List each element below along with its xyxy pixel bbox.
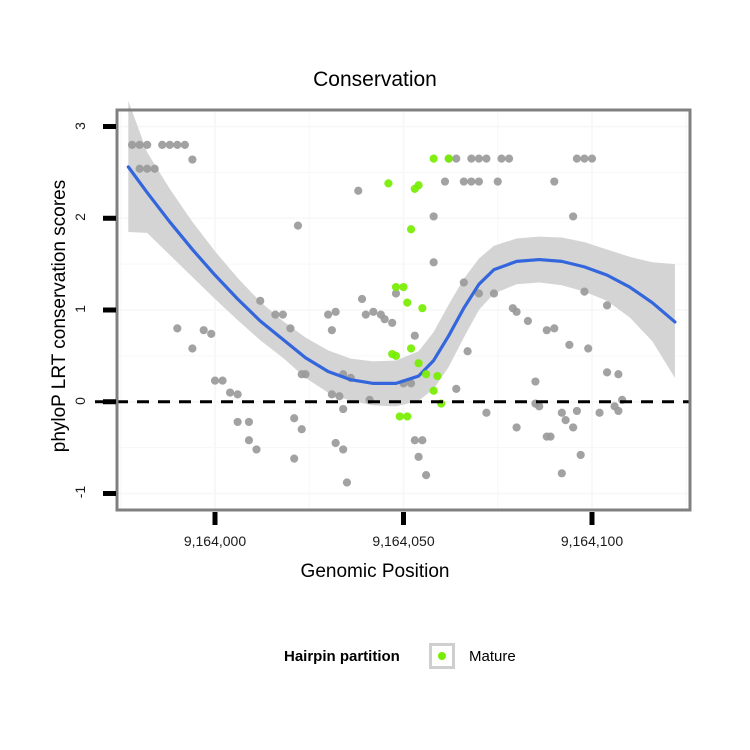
data-point-mature	[403, 299, 411, 307]
data-point-other	[505, 155, 513, 163]
data-point-other	[558, 469, 566, 477]
y-axis-tick-label: 1	[72, 294, 88, 324]
data-point-mature	[414, 359, 422, 367]
data-point-other	[524, 317, 532, 325]
data-point-other	[460, 278, 468, 286]
data-point-other	[328, 326, 336, 334]
data-point-mature	[403, 412, 411, 420]
data-point-other	[245, 418, 253, 426]
data-point-other	[256, 297, 264, 305]
data-point-other	[411, 436, 419, 444]
data-point-other	[200, 326, 208, 334]
y-axis-tick-label: 3	[72, 111, 88, 141]
data-point-other	[286, 324, 294, 332]
data-point-other	[173, 141, 181, 149]
data-point-other	[467, 155, 475, 163]
data-point-other	[128, 141, 136, 149]
data-point-other	[584, 344, 592, 352]
data-point-other	[494, 177, 502, 185]
data-point-other	[388, 319, 396, 327]
data-point-other	[271, 310, 279, 318]
legend-title: Hairpin partition	[284, 648, 400, 665]
data-point-other	[463, 347, 471, 355]
data-point-other	[245, 436, 253, 444]
data-point-mature	[399, 283, 407, 291]
data-point-other	[343, 478, 351, 486]
data-point-other	[294, 222, 302, 230]
data-point-other	[573, 155, 581, 163]
data-point-other	[550, 324, 558, 332]
data-point-other	[482, 409, 490, 417]
data-point-other	[441, 177, 449, 185]
data-point-other	[482, 155, 490, 163]
data-point-other	[136, 165, 144, 173]
data-point-other	[490, 289, 498, 297]
data-point-other	[562, 416, 570, 424]
data-point-other	[475, 177, 483, 185]
data-point-other	[569, 423, 577, 431]
legend-dot-icon	[438, 652, 446, 660]
data-point-other	[580, 288, 588, 296]
y-axis-tick-label: 0	[72, 386, 88, 416]
legend-label-mature: Mature	[469, 648, 516, 665]
y-axis-tick-label: 2	[72, 202, 88, 232]
data-point-other	[332, 439, 340, 447]
x-axis-tick-label: 9,164,100	[522, 533, 662, 549]
data-point-other	[301, 370, 309, 378]
data-point-other	[411, 332, 419, 340]
data-point-other	[234, 390, 242, 398]
data-point-other	[358, 295, 366, 303]
data-point-other	[531, 377, 539, 385]
data-point-mature	[392, 352, 400, 360]
data-point-other	[595, 409, 603, 417]
data-point-other	[546, 433, 554, 441]
plot-area	[0, 0, 750, 750]
data-point-other	[430, 212, 438, 220]
data-point-other	[460, 177, 468, 185]
data-point-other	[279, 310, 287, 318]
data-point-other	[339, 405, 347, 413]
data-point-mature	[392, 283, 400, 291]
data-point-other	[290, 455, 298, 463]
data-point-other	[603, 368, 611, 376]
data-point-other	[158, 141, 166, 149]
data-point-other	[550, 177, 558, 185]
conservation-scatter-figure: Conservation phyloP LRT conservation sco…	[0, 0, 750, 750]
data-point-other	[143, 141, 151, 149]
data-point-mature	[430, 387, 438, 395]
data-point-other	[418, 436, 426, 444]
data-point-other	[362, 310, 370, 318]
data-point-other	[543, 326, 551, 334]
data-point-mature	[418, 304, 426, 312]
data-point-other	[588, 155, 596, 163]
data-point-other	[339, 445, 347, 453]
data-point-other	[414, 453, 422, 461]
data-point-other	[290, 414, 298, 422]
data-point-other	[577, 451, 585, 459]
data-point-mature	[414, 181, 422, 189]
data-point-other	[324, 310, 332, 318]
data-point-mature	[396, 412, 404, 420]
data-point-other	[369, 308, 377, 316]
data-point-mature	[433, 372, 441, 380]
data-point-other	[188, 155, 196, 163]
data-point-other	[452, 155, 460, 163]
data-point-other	[181, 141, 189, 149]
data-point-mature	[407, 344, 415, 352]
data-point-other	[226, 388, 234, 396]
data-point-other	[569, 212, 577, 220]
data-point-other	[603, 301, 611, 309]
data-point-other	[614, 370, 622, 378]
data-point-other	[452, 385, 460, 393]
data-point-other	[535, 402, 543, 410]
data-point-other	[136, 141, 144, 149]
y-axis-tick-label: -1	[72, 477, 88, 507]
data-point-other	[328, 390, 336, 398]
data-point-other	[430, 258, 438, 266]
data-point-other	[475, 155, 483, 163]
data-point-mature	[384, 179, 392, 187]
data-point-other	[252, 445, 260, 453]
data-point-mature	[430, 155, 438, 163]
data-point-other	[173, 324, 181, 332]
data-point-other	[558, 409, 566, 417]
data-point-other	[211, 377, 219, 385]
data-point-mature	[445, 155, 453, 163]
data-point-other	[497, 155, 505, 163]
data-point-other	[166, 141, 174, 149]
data-point-other	[332, 308, 340, 316]
data-point-other	[565, 341, 573, 349]
x-axis-tick-label: 9,164,050	[334, 533, 474, 549]
data-point-other	[151, 165, 159, 173]
data-point-other	[234, 418, 242, 426]
data-point-other	[573, 407, 581, 415]
data-point-other	[143, 165, 151, 173]
data-point-other	[614, 407, 622, 415]
data-point-other	[335, 392, 343, 400]
data-point-other	[467, 177, 475, 185]
data-point-mature	[422, 370, 430, 378]
data-point-other	[381, 315, 389, 323]
data-point-other	[580, 155, 588, 163]
legend-key-mature[interactable]	[429, 643, 455, 669]
data-point-other	[512, 308, 520, 316]
data-point-other	[207, 330, 215, 338]
data-point-other	[354, 187, 362, 195]
data-point-other	[218, 377, 226, 385]
x-axis-tick-label: 9,164,000	[145, 533, 285, 549]
data-point-other	[422, 471, 430, 479]
data-point-other	[188, 344, 196, 352]
data-point-mature	[407, 225, 415, 233]
data-point-other	[298, 425, 306, 433]
data-point-other	[512, 423, 520, 431]
